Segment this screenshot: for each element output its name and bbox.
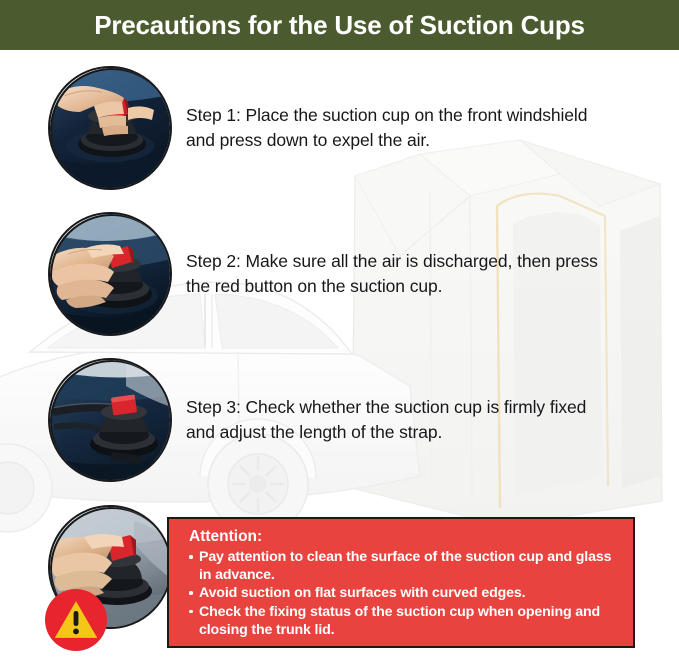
step-3-text: Step 3: Check whether the suction cup is… [186,395,616,446]
step-row-1: Step 1: Place the suction cup on the fro… [48,66,616,190]
step-1-text: Step 1: Place the suction cup on the fro… [186,103,616,154]
step-row-2: Step 2: Make sure all the air is dischar… [48,212,616,336]
precautions-infographic: Precautions for the Use of Suction Cups [0,0,679,661]
step-row-3: Step 3: Check whether the suction cup is… [48,358,616,482]
attention-bullet-3: Check the fixing status of the suction c… [189,603,623,639]
step-2-photo [48,212,172,336]
step-2-text: Step 2: Make sure all the air is dischar… [186,249,616,300]
attention-title: Attention: [189,527,623,547]
attention-bullet-2: Avoid suction on flat surfaces with curv… [189,584,623,602]
attention-panel: Attention: Pay attention to clean the su… [167,517,635,648]
step-1-photo [48,66,172,190]
step-3-photo [48,358,172,482]
attention-bullet-list: Pay attention to clean the surface of th… [189,548,623,639]
warning-triangle-icon [45,589,107,651]
page-title: Precautions for the Use of Suction Cups [94,12,585,38]
attention-bullet-1: Pay attention to clean the surface of th… [189,548,623,584]
header-banner: Precautions for the Use of Suction Cups [0,0,679,50]
